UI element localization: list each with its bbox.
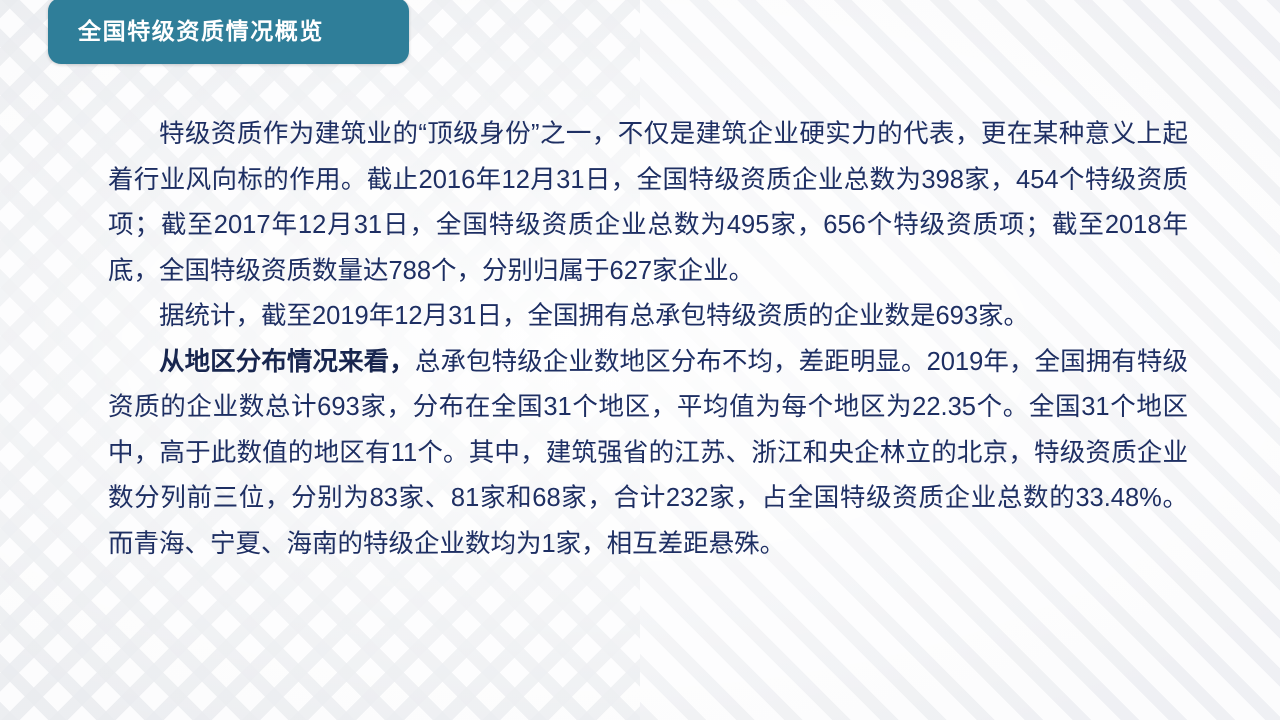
title-badge: 全国特级资质情况概览 [48,0,409,64]
page-title: 全国特级资质情况概览 [48,20,324,43]
paragraph-1: 特级资质作为建筑业的“顶级身份”之一，不仅是建筑企业硬实力的代表，更在某种意义上… [108,112,1188,294]
paragraph-3-text: 总承包特级企业数地区分布不均，差距明显。2019年，全国拥有特级资质的企业数总计… [108,348,1188,558]
paragraph-3: 从地区分布情况来看，总承包特级企业数地区分布不均，差距明显。2019年，全国拥有… [108,340,1188,568]
paragraph-2: 据统计，截至2019年12月31日，全国拥有总承包特级资质的企业数是693家。 [108,294,1188,340]
paragraph-3-lead: 从地区分布情况来看， [159,348,415,376]
slide-root: 全国特级资质情况概览 特级资质作为建筑业的“顶级身份”之一，不仅是建筑企业硬实力… [0,0,1280,720]
paragraph-2-text: 据统计，截至2019年12月31日，全国拥有总承包特级资质的企业数是693家。 [159,302,1029,330]
paragraph-1-text: 特级资质作为建筑业的“顶级身份”之一，不仅是建筑企业硬实力的代表，更在某种意义上… [108,120,1188,285]
body-copy: 特级资质作为建筑业的“顶级身份”之一，不仅是建筑企业硬实力的代表，更在某种意义上… [108,112,1188,567]
